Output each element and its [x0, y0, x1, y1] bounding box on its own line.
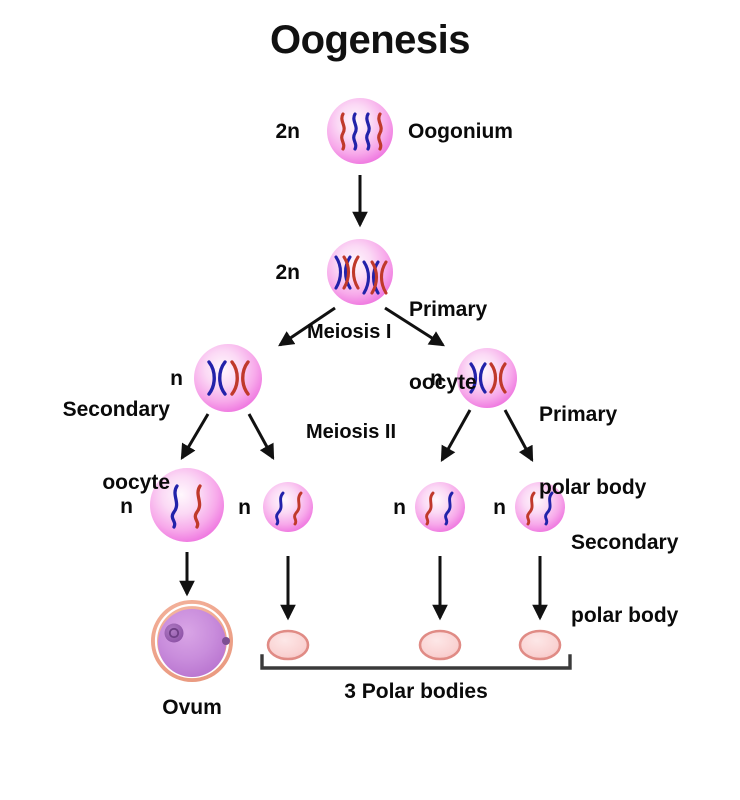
polar-cell-2-ploidy: n: [373, 496, 406, 520]
ovum-cell: [151, 600, 233, 682]
primary-oocyte-label-line1: Primary: [409, 298, 487, 322]
secondary-oocyte-label-line2: oocyte: [40, 471, 170, 495]
meiosis-1-label: Meiosis I: [307, 321, 391, 344]
polar-body-product-3: [520, 631, 560, 659]
polar-cell-3-ploidy: n: [473, 496, 506, 520]
secondary-polar-body-label: Secondary polar body: [571, 483, 678, 676]
polar-bodies-label: 3 Polar bodies: [306, 680, 526, 704]
polar-body-product-2: [420, 631, 460, 659]
oogonium-ploidy: 2n: [250, 120, 300, 144]
secondary-oocyte-ploidy: n: [150, 367, 183, 391]
polar-bodies-bracket: [262, 656, 570, 668]
arrow-meiosis2-oocyte-right: [249, 414, 273, 458]
cell-secondary-polar-body-2: [415, 482, 465, 532]
polar-cell-1-ploidy: n: [218, 496, 251, 520]
secondary-oocyte-label-line1: Secondary: [40, 398, 170, 422]
oogonium-label: Oogonium: [408, 120, 513, 144]
cell-oogonium: [327, 98, 393, 164]
secondary-polar-body-label-line1: Secondary: [571, 531, 678, 555]
cell-secondary-oocyte: [194, 344, 262, 412]
secondary-polar-body-label-line2: polar body: [571, 604, 678, 628]
primary-oocyte-label: Primary oocyte: [409, 250, 487, 443]
arrow-meiosis2-oocyte-left: [182, 414, 208, 458]
ootid-ploidy: n: [100, 495, 133, 519]
polar-body-product-1: [268, 631, 308, 659]
primary-oocyte-ploidy: 2n: [250, 261, 300, 285]
oogenesis-diagram: Oogenesis: [0, 0, 740, 800]
meiosis-2-label: Meiosis II: [306, 421, 396, 444]
primary-polar-body-label-line1: Primary: [539, 403, 646, 427]
ovum-label: Ovum: [132, 696, 252, 720]
arrow-meiosis2-polar-right: [505, 410, 532, 460]
cell-secondary-polar-body-1: [263, 482, 313, 532]
primary-polar-body-ploidy: n: [410, 367, 443, 391]
cell-primary-oocyte: [327, 239, 393, 305]
